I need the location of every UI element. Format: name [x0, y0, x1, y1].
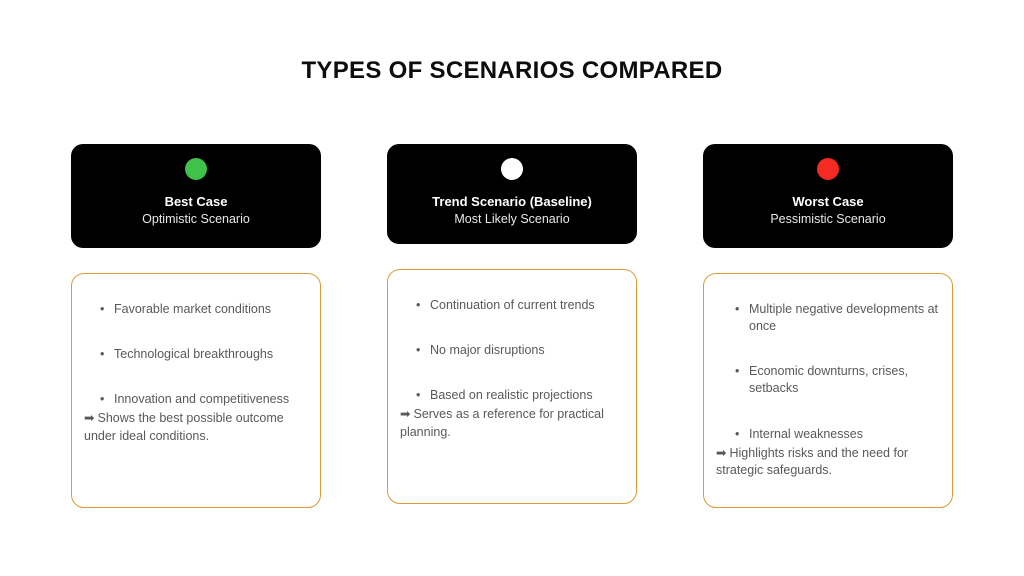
summary-note-text: Serves as a reference for practical plan…	[400, 407, 604, 438]
right-arrow-icon: ➡	[400, 407, 410, 421]
card-header-best-case[interactable]: Best Case Optimistic Scenario	[71, 144, 321, 248]
list-item: Continuation of current trends	[400, 297, 624, 314]
bullet-list-worst-case: Multiple negative developments at once E…	[716, 301, 940, 443]
list-item: Favorable market conditions	[84, 301, 308, 318]
card-title-trend: Trend Scenario (Baseline)	[397, 194, 627, 210]
summary-note-text: Shows the best possible outcome under id…	[84, 411, 284, 442]
list-item: Based on realistic projections	[400, 387, 624, 404]
list-item: Innovation and competitiveness	[84, 391, 308, 408]
card-title-best-case: Best Case	[81, 194, 311, 210]
summary-note-trend: ➡Serves as a reference for practical pla…	[400, 406, 624, 441]
bullet-list-trend: Continuation of current trends No major …	[400, 297, 624, 405]
card-body-trend: Continuation of current trends No major …	[387, 269, 637, 504]
list-item: Internal weaknesses	[716, 426, 940, 443]
card-header-worst-case[interactable]: Worst Case Pessimistic Scenario	[703, 144, 953, 248]
white-status-dot	[501, 158, 523, 180]
scenario-columns: Best Case Optimistic Scenario Favorable …	[71, 144, 953, 508]
scenario-column-trend: Trend Scenario (Baseline) Most Likely Sc…	[387, 144, 637, 504]
red-status-dot	[817, 158, 839, 180]
card-subtitle-worst-case: Pessimistic Scenario	[713, 211, 943, 227]
card-subtitle-trend: Most Likely Scenario	[397, 211, 627, 227]
list-item: Technological breakthroughs	[84, 346, 308, 363]
list-item: Economic downturns, crises, setbacks	[716, 363, 940, 398]
card-body-best-case: Favorable market conditions Technologica…	[71, 273, 321, 508]
summary-note-best-case: ➡Shows the best possible outcome under i…	[84, 410, 308, 445]
card-subtitle-best-case: Optimistic Scenario	[81, 211, 311, 227]
scenario-column-worst-case: Worst Case Pessimistic Scenario Multiple…	[703, 144, 953, 508]
right-arrow-icon: ➡	[716, 446, 726, 460]
green-status-dot	[185, 158, 207, 180]
summary-note-text: Highlights risks and the need for strate…	[716, 446, 908, 477]
summary-note-worst-case: ➡Highlights risks and the need for strat…	[716, 445, 940, 480]
list-item: No major disruptions	[400, 342, 624, 359]
slide-canvas: TYPES OF SCENARIOS COMPARED Best Case Op…	[0, 0, 1024, 576]
right-arrow-icon: ➡	[84, 411, 94, 425]
card-body-worst-case: Multiple negative developments at once E…	[703, 273, 953, 508]
list-item: Multiple negative developments at once	[716, 301, 940, 336]
bullet-list-best-case: Favorable market conditions Technologica…	[84, 301, 308, 409]
page-title: TYPES OF SCENARIOS COMPARED	[0, 57, 1024, 85]
scenario-column-best-case: Best Case Optimistic Scenario Favorable …	[71, 144, 321, 508]
card-header-trend[interactable]: Trend Scenario (Baseline) Most Likely Sc…	[387, 144, 637, 244]
card-title-worst-case: Worst Case	[713, 194, 943, 210]
